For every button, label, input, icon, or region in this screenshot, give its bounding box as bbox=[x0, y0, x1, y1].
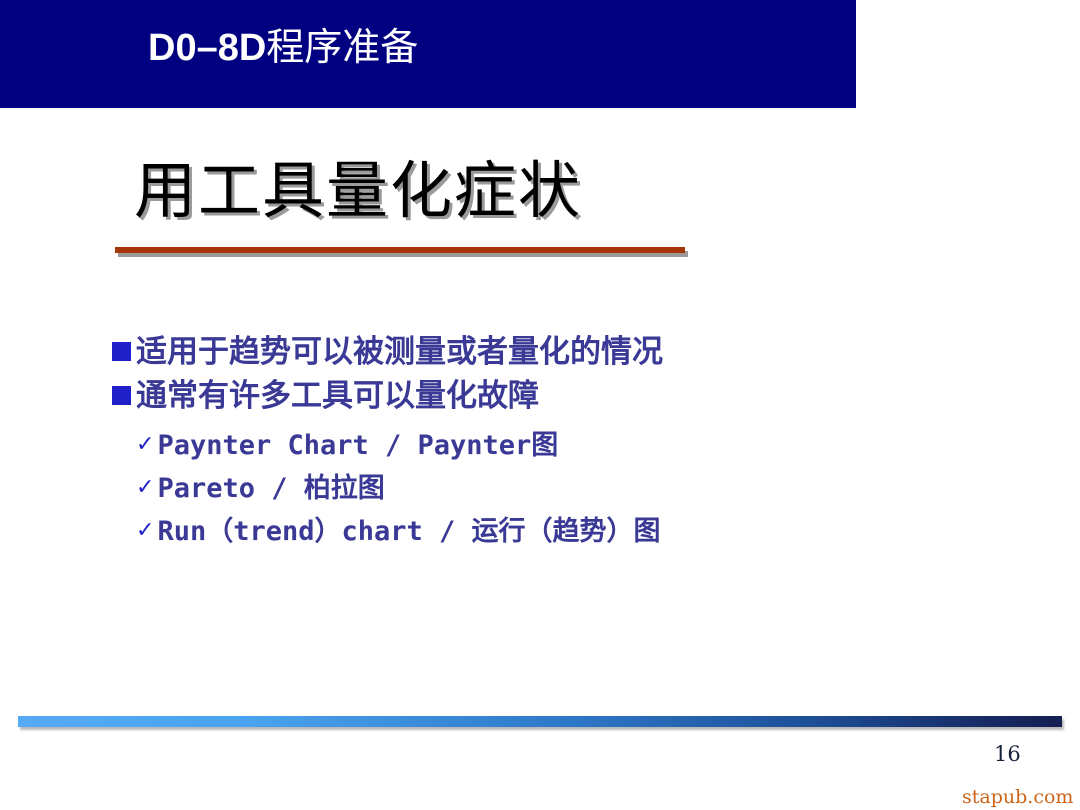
list-item-label: 通常有许多工具可以量化故障 bbox=[136, 374, 539, 418]
square-bullet-icon bbox=[112, 342, 131, 361]
page-number: 16 bbox=[994, 742, 1021, 766]
sub-bullet-list: ✓ Paynter Chart / Paynter图 ✓ Pareto / 柏拉… bbox=[136, 424, 992, 554]
list-item-label: Paynter Chart / Paynter图 bbox=[157, 424, 558, 467]
header-title-cjk: 程序准备 bbox=[266, 25, 418, 69]
list-item-label: 适用于趋势可以被测量或者量化的情况 bbox=[136, 330, 663, 374]
title-underline-rule bbox=[115, 247, 685, 259]
page-title: 用工具量化症状 bbox=[134, 158, 582, 225]
check-bullet-icon: ✓ bbox=[136, 520, 154, 542]
list-item-label: Run（trend）chart / 运行（趋势）图 bbox=[157, 510, 660, 553]
footer-gradient-bar bbox=[18, 716, 1062, 727]
header-banner: D0–8D程序准备 bbox=[0, 0, 856, 108]
content-bullet-list: 适用于趋势可以被测量或者量化的情况 通常有许多工具可以量化故障 ✓ Paynte… bbox=[112, 330, 992, 554]
slide-canvas: D0–8D程序准备 用工具量化症状 适用于趋势可以被测量或者量化的情况 通常有许… bbox=[0, 0, 1080, 810]
header-title: D0–8D程序准备 bbox=[148, 16, 418, 71]
square-bullet-icon bbox=[112, 386, 131, 405]
title-underline-bar bbox=[115, 247, 685, 253]
list-item: 适用于趋势可以被测量或者量化的情况 bbox=[112, 330, 992, 374]
watermark: stapub.com bbox=[962, 786, 1073, 808]
check-bullet-icon: ✓ bbox=[136, 477, 154, 499]
header-title-latin: D0–8D bbox=[148, 27, 266, 69]
check-bullet-icon: ✓ bbox=[136, 434, 154, 456]
list-item: ✓ Pareto / 柏拉图 bbox=[136, 467, 992, 510]
list-item-label: Pareto / 柏拉图 bbox=[157, 467, 384, 510]
list-item: ✓ Paynter Chart / Paynter图 bbox=[136, 424, 992, 467]
list-item: 通常有许多工具可以量化故障 bbox=[112, 374, 992, 418]
list-item: ✓ Run（trend）chart / 运行（趋势）图 bbox=[136, 510, 992, 553]
